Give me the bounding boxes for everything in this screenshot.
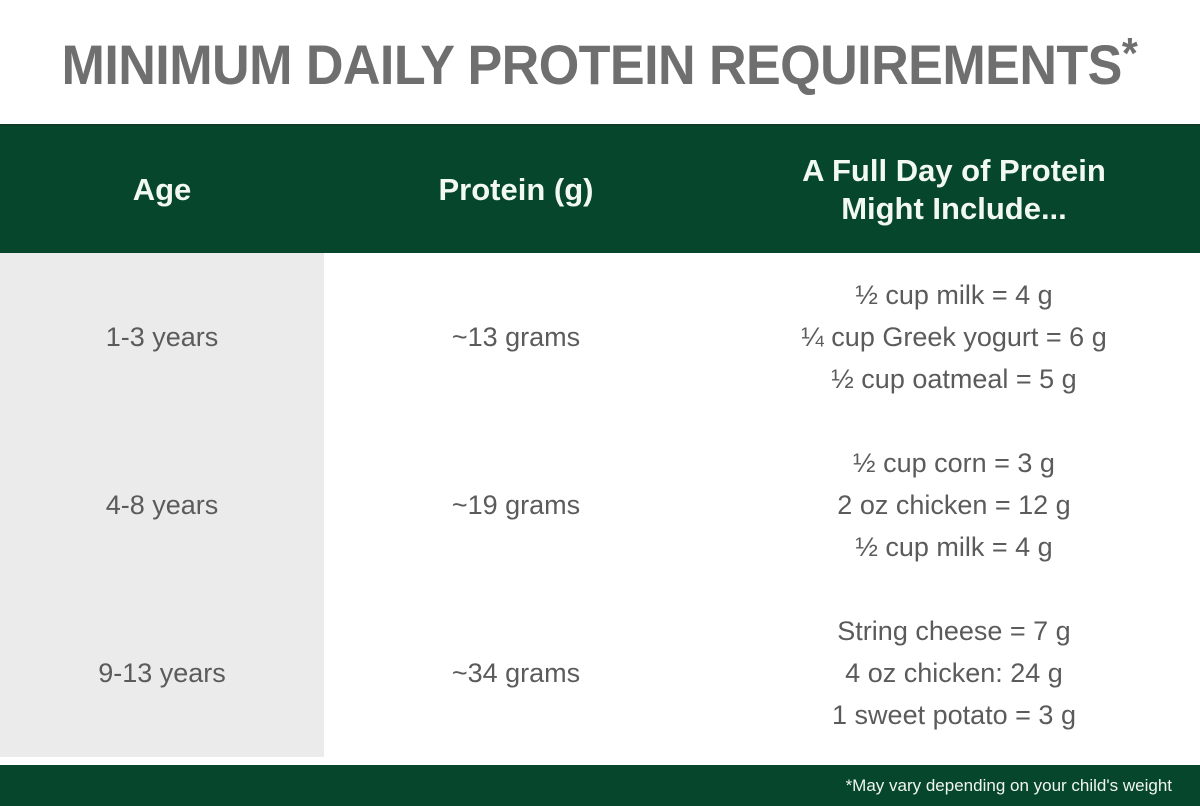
page-title: MINIMUM DAILY PROTEIN REQUIREMENTS* <box>62 32 1138 93</box>
food-line: 1 sweet potato = 3 g <box>832 694 1076 736</box>
column-header-foods-line1: A Full Day of Protein <box>802 152 1106 190</box>
cell-protein: ~13 grams <box>324 322 708 353</box>
footer-gap <box>0 757 1200 765</box>
footnote-text: *May vary depending on your child's weig… <box>846 776 1172 796</box>
title-asterisk: * <box>1122 29 1138 78</box>
table-header-row: Age Protein (g) A Full Day of Protein Mi… <box>0 124 1200 253</box>
table-row: 9-13 years ~34 grams String cheese = 7 g… <box>0 589 1200 757</box>
cell-age: 4-8 years <box>0 490 324 521</box>
footer-bar: *May vary depending on your child's weig… <box>0 765 1200 806</box>
food-line: ½ cup corn = 3 g <box>853 442 1055 484</box>
title-bar: MINIMUM DAILY PROTEIN REQUIREMENTS* <box>0 0 1200 124</box>
table-body: 1-3 years ~13 grams ½ cup milk = 4 g ¼ c… <box>0 253 1200 757</box>
cell-protein: ~34 grams <box>324 658 708 689</box>
food-line: String cheese = 7 g <box>837 610 1070 652</box>
cell-foods: ½ cup corn = 3 g 2 oz chicken = 12 g ½ c… <box>708 442 1200 568</box>
column-header-foods: A Full Day of Protein Might Include... <box>708 126 1200 253</box>
table-row: 4-8 years ~19 grams ½ cup corn = 3 g 2 o… <box>0 421 1200 589</box>
food-line: 2 oz chicken = 12 g <box>837 484 1070 526</box>
food-line: ¼ cup Greek yogurt = 6 g <box>801 316 1106 358</box>
cell-foods: ½ cup milk = 4 g ¼ cup Greek yogurt = 6 … <box>708 274 1200 400</box>
cell-age: 1-3 years <box>0 322 324 353</box>
food-line: ½ cup oatmeal = 5 g <box>831 358 1076 400</box>
table-row: 1-3 years ~13 grams ½ cup milk = 4 g ¼ c… <box>0 253 1200 421</box>
column-header-protein: Protein (g) <box>324 126 708 253</box>
page-title-text: MINIMUM DAILY PROTEIN REQUIREMENTS <box>62 33 1122 96</box>
column-header-foods-line2: Might Include... <box>802 190 1106 228</box>
food-line: 4 oz chicken: 24 g <box>845 652 1063 694</box>
cell-protein: ~19 grams <box>324 490 708 521</box>
table-rows: 1-3 years ~13 grams ½ cup milk = 4 g ¼ c… <box>0 253 1200 757</box>
cell-foods: String cheese = 7 g 4 oz chicken: 24 g 1… <box>708 610 1200 736</box>
protein-requirements-infographic: MINIMUM DAILY PROTEIN REQUIREMENTS* Age … <box>0 0 1200 806</box>
food-line: ½ cup milk = 4 g <box>855 274 1052 316</box>
food-line: ½ cup milk = 4 g <box>855 526 1052 568</box>
column-header-age: Age <box>0 126 324 253</box>
cell-age: 9-13 years <box>0 658 324 689</box>
